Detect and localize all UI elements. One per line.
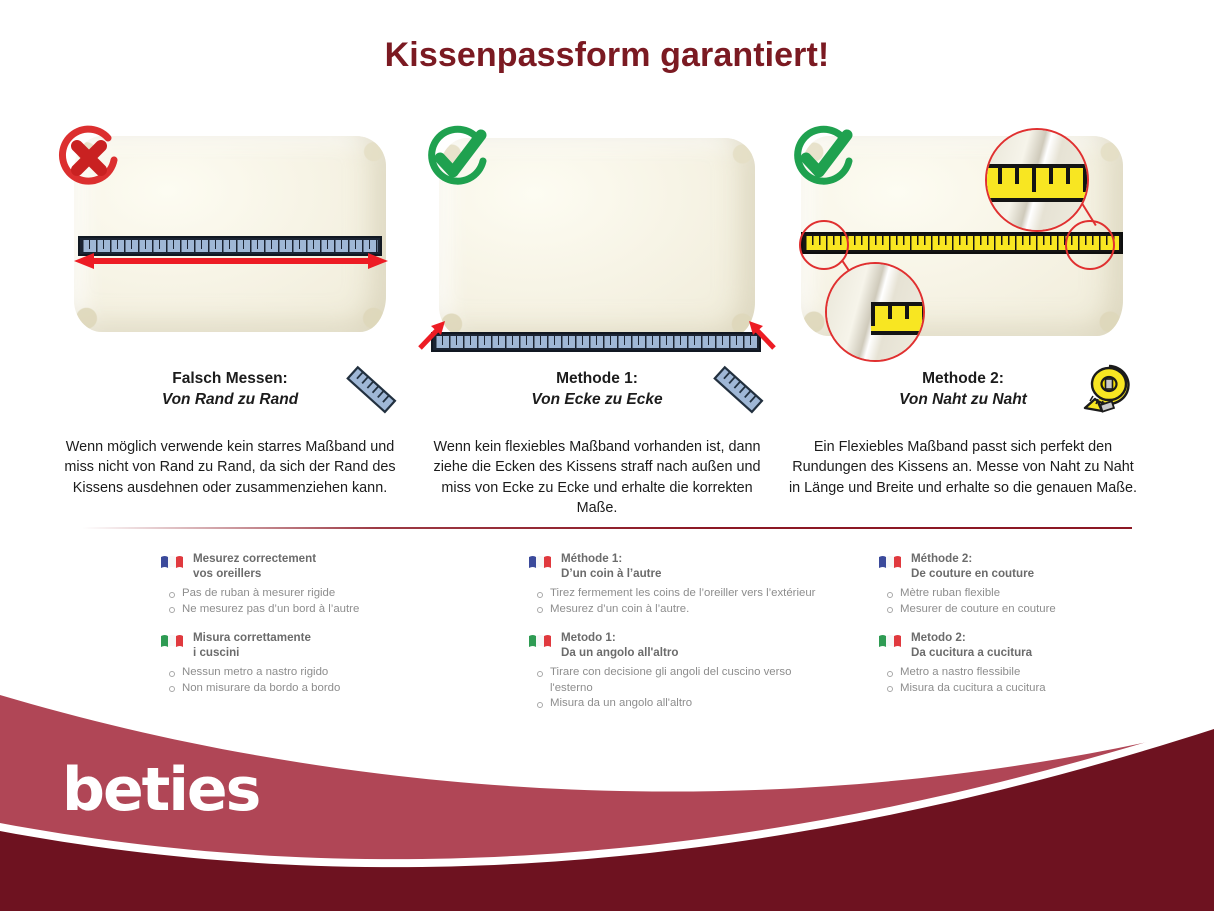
- language-group-fr: Mesurez correctement vos oreillers Pas d…: [160, 552, 460, 617]
- group-title-line-1: Mesurez correctement: [193, 552, 316, 567]
- corner-arrow-right-icon: [747, 318, 777, 352]
- group-title-line-1: Méthode 2:: [911, 552, 1034, 567]
- yellow-tape-measure-icon: [1079, 363, 1137, 413]
- group-title-line-1: Metodo 1:: [561, 631, 678, 646]
- italian-flag-icon: [528, 633, 552, 650]
- blue-rigid-ruler-icon: [342, 365, 400, 415]
- blue-rigid-ruler-icon: [709, 365, 767, 415]
- italian-flag-icon: [160, 633, 184, 650]
- column-methode-1: Methode 1: Von Ecke zu Ecke Wenn kein fl…: [417, 120, 777, 519]
- column-body-text: Wenn möglich verwende kein starres Maßba…: [50, 437, 410, 498]
- french-flag-icon: [528, 554, 552, 571]
- italian-flag-icon: [878, 633, 902, 650]
- footer-banner: beties: [0, 681, 1214, 911]
- bullet-list: Mètre ruban flexible Mesurer de couture …: [878, 586, 1178, 617]
- language-group-fr: Méthode 1: D’un coin à l’autre Tirez fer…: [528, 552, 828, 617]
- infographic-page: Kissenpassform garantiert! Falsch Messen…: [0, 0, 1214, 911]
- list-item: Mesurez d’un coin à l’autre.: [528, 602, 828, 617]
- column-heading: Falsch Messen: Von Rand zu Rand: [50, 369, 410, 423]
- seam-marker-ring-left: [799, 220, 849, 270]
- magnifier-callout-bottom-left: [825, 262, 925, 362]
- group-title-line-2: Da cucitura a cucitura: [911, 646, 1032, 661]
- illustration-seam-to-seam: [783, 120, 1143, 365]
- illustration-corner-to-corner: [417, 120, 777, 365]
- group-title-line-2: Da un angolo all'altro: [561, 646, 678, 661]
- brand-logo: beties: [62, 755, 259, 825]
- section-divider: [82, 527, 1132, 529]
- list-item: Ne mesurez pas d’un bord à l’autre: [160, 602, 460, 617]
- column-heading: Methode 2: Von Naht zu Naht: [783, 369, 1143, 423]
- group-title-line-1: Metodo 2:: [911, 631, 1032, 646]
- list-item: Mètre ruban flexible: [878, 586, 1178, 601]
- bullet-list: Tirez fermement les coins de l’oreiller …: [528, 586, 828, 617]
- column-methode-2: Methode 2: Von Naht zu Naht Ein Flexiebl…: [783, 120, 1143, 498]
- group-title-line-2: De couture en couture: [911, 567, 1034, 582]
- green-check-circle-icon: [787, 124, 859, 196]
- list-item: Metro a nastro flessibile: [878, 665, 1178, 680]
- group-title-line-2: vos oreillers: [193, 567, 316, 582]
- column-falsch-messen: Falsch Messen: Von Rand zu Rand Wenn mög…: [50, 120, 410, 498]
- illustration-wrong-measure: [50, 120, 410, 365]
- group-title-line-2: i cuscini: [193, 646, 311, 661]
- group-title-line-2: D’un coin à l’autre: [561, 567, 662, 582]
- list-item: Mesurer de couture en couture: [878, 602, 1178, 617]
- list-item: Nessun metro a nastro rigido: [160, 665, 460, 680]
- french-flag-icon: [878, 554, 902, 571]
- bullet-list: Pas de ruban à mesurer rigide Ne mesurez…: [160, 586, 460, 617]
- corner-arrow-left-icon: [417, 318, 447, 352]
- list-item: Tirez fermement les coins de l’oreiller …: [528, 586, 828, 601]
- page-title: Kissenpassform garantiert!: [0, 36, 1214, 75]
- edge-to-edge-arrow-icon: [72, 248, 390, 274]
- column-body-text: Ein Flexiebles Maßband passt sich perfek…: [783, 437, 1143, 498]
- column-heading: Methode 1: Von Ecke zu Ecke: [417, 369, 777, 423]
- green-check-circle-icon: [421, 124, 493, 196]
- list-item: Pas de ruban à mesurer rigide: [160, 586, 460, 601]
- group-title-line-1: Misura correttamente: [193, 631, 311, 646]
- language-group-fr: Méthode 2: De couture en couture Mètre r…: [878, 552, 1178, 617]
- magnifier-callout-top-right: [985, 128, 1089, 232]
- group-title-line-1: Méthode 1:: [561, 552, 662, 567]
- column-body-text: Wenn kein flexiebles Maßband vorhanden i…: [417, 437, 777, 519]
- red-x-circle-icon: [54, 124, 126, 196]
- french-flag-icon: [160, 554, 184, 571]
- rigid-ruler-below-pillow: [431, 332, 761, 352]
